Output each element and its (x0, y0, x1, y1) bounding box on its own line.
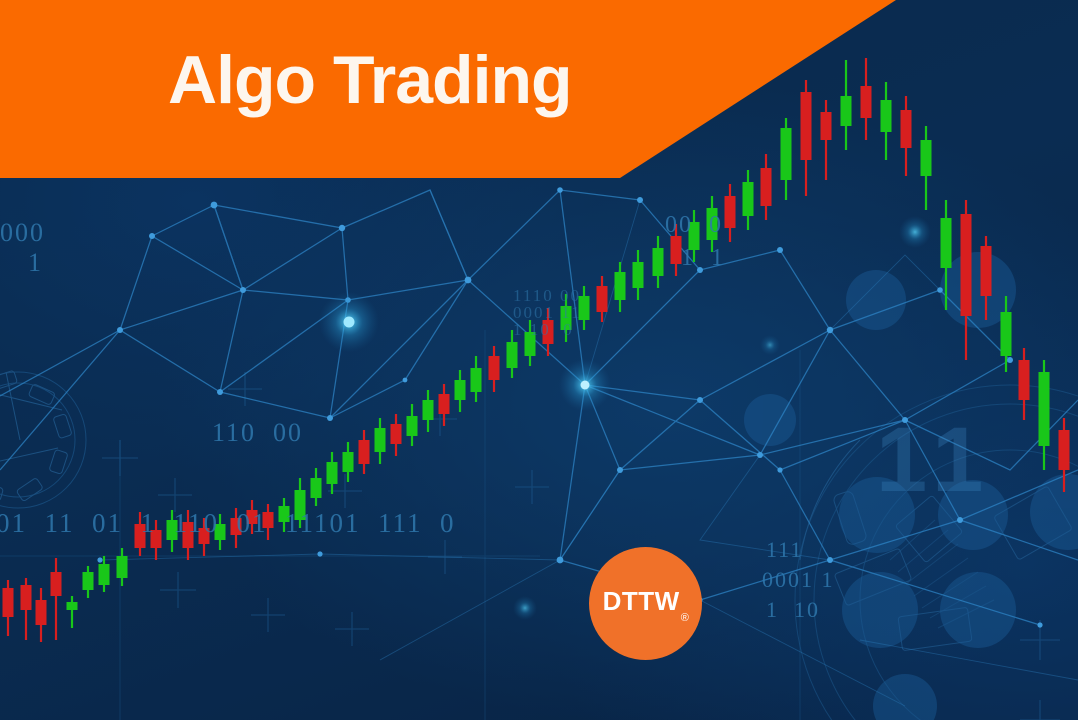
binary-text-row-long: 01 11 01 1 110 01 11101 111 0 (0, 508, 456, 539)
dttw-logo[interactable]: DTTW® (589, 547, 702, 660)
binary-text-top-00: 00 0 (665, 212, 723, 239)
page-title: Algo Trading (168, 46, 572, 114)
binary-text-left-1: 1 (28, 248, 43, 278)
binary-text-mid-11000: 110 00 (212, 418, 303, 448)
binary-text-top-11: 1 1 (681, 245, 725, 272)
binary-text-br-111: 111 (766, 537, 803, 563)
binary-text-br-0001: 0001 1 (762, 567, 835, 593)
promo-banner-image: 11 00011110 000001 111 10 000 01 1110 00… (0, 0, 1078, 720)
dttw-logo-text: DTTW® (603, 586, 689, 619)
binary-text-mid-110: 1 10 0 (513, 320, 574, 340)
registered-mark-icon: ® (681, 612, 690, 624)
binary-text-br-110: 1 10 (766, 597, 820, 623)
binary-text-left-000: 000 (0, 218, 45, 248)
